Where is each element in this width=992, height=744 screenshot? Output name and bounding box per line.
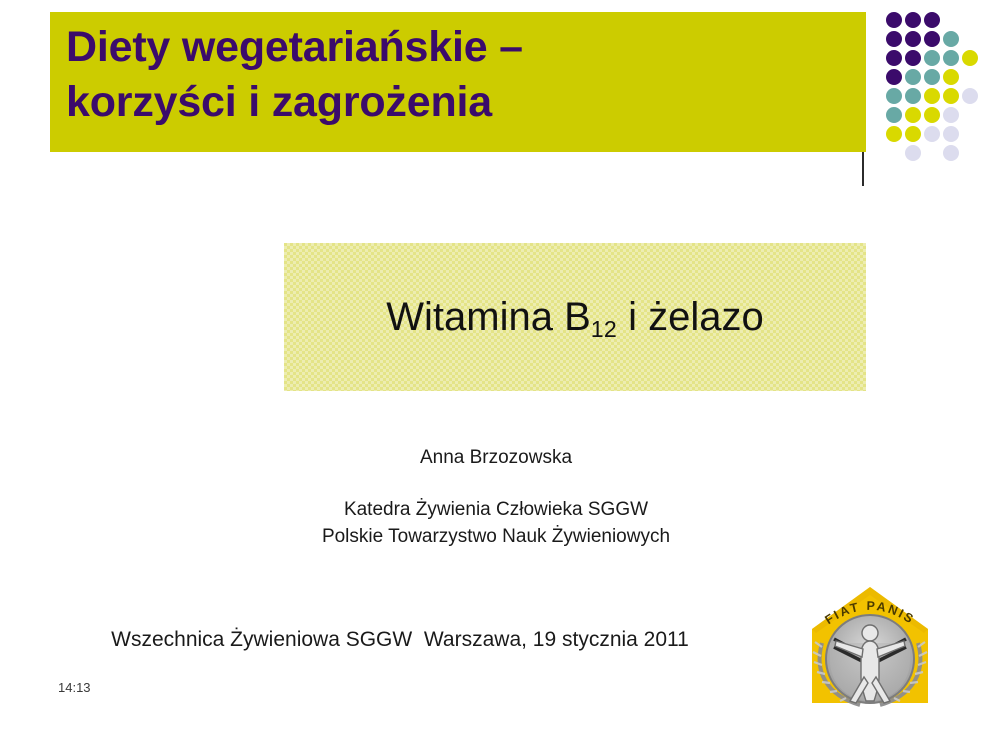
decorative-dot [924,107,940,123]
decorative-dot [924,69,940,85]
decorative-dot [924,12,940,28]
decorative-dot [886,50,902,66]
decorative-dot [905,50,921,66]
decorative-dot [886,12,902,28]
event-line: Wszechnica Żywieniowa SGGW Warszawa, 19 … [0,628,800,652]
decorative-dot [943,88,959,104]
decorative-dot [905,107,921,123]
decorative-dot [905,88,921,104]
decorative-dot [905,69,921,85]
decorative-dot [924,126,940,142]
decorative-dot [905,126,921,142]
timestamp: 14:13 [58,680,91,695]
decorative-dot [962,88,978,104]
author-name: Anna Brzozowska [0,445,992,471]
decorative-dot-grid [886,12,992,172]
decorative-dot [886,126,902,142]
presentation-slide: Diety wegetariańskie – korzyści i zagroż… [0,0,992,744]
decorative-dot [962,50,978,66]
decorative-dot [943,69,959,85]
decorative-dot [886,31,902,47]
decorative-dot [943,126,959,142]
subtitle-subscript: 12 [591,316,617,342]
decorative-dot [924,88,940,104]
decorative-dot [924,50,940,66]
decorative-dot [943,145,959,161]
decorative-dot [905,31,921,47]
decorative-dot [905,145,921,161]
decorative-dot [886,107,902,123]
divider-tick [862,152,864,186]
sggw-logo: FIAT PANIS [806,581,934,709]
decorative-dot [943,50,959,66]
decorative-dot [943,31,959,47]
subtitle-box: Witamina B12 i żelazo [284,243,866,391]
decorative-dot [924,31,940,47]
subtitle-text: Witamina B12 i żelazo [386,295,763,339]
title-band: Diety wegetariańskie – korzyści i zagroż… [50,12,866,152]
author-block: Anna Brzozowska Katedra Żywienia Człowie… [0,445,992,551]
affiliation: Katedra Żywienia Człowieka SGGW Polskie … [0,497,992,551]
slide-title: Diety wegetariańskie – korzyści i zagroż… [66,20,856,130]
decorative-dot [943,107,959,123]
decorative-dot [905,12,921,28]
decorative-dot [886,88,902,104]
subtitle-prefix: Witamina B [386,295,591,339]
sggw-emblem-icon: FIAT PANIS [806,581,934,709]
subtitle-suffix: i żelazo [617,295,764,339]
decorative-dot [886,69,902,85]
